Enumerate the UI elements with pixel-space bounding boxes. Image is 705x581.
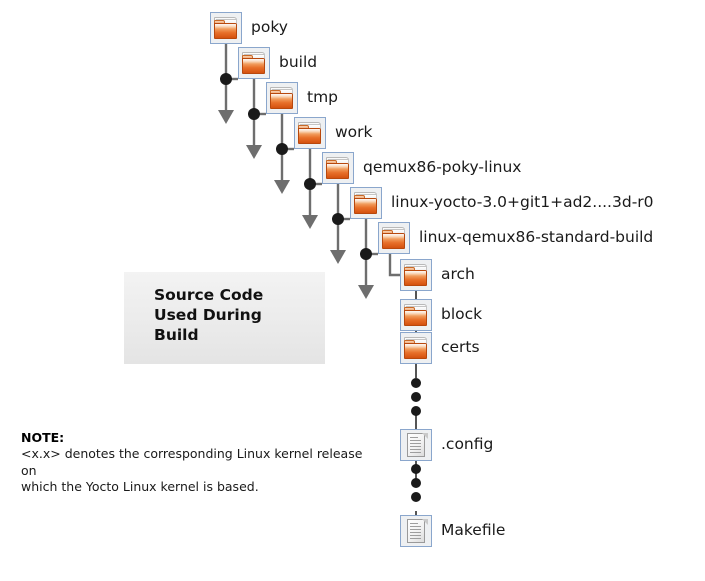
folder-icon xyxy=(294,117,326,149)
file-icon xyxy=(400,515,432,547)
tree-node-label: arch xyxy=(441,267,475,283)
folder-icon xyxy=(350,187,382,219)
note-body: <x.x> denotes the corresponding Linux ke… xyxy=(21,446,381,496)
folder-icon xyxy=(322,152,354,184)
tree-node-poky[interactable]: poky xyxy=(210,12,288,44)
tree-node-linux-qemux86-standard-build[interactable]: linux-qemux86-standard-build xyxy=(378,222,653,254)
ellipsis-dots-upper xyxy=(411,378,421,416)
tree-node-makefile[interactable]: Makefile xyxy=(400,515,505,547)
folder-icon xyxy=(238,47,270,79)
folder-icon xyxy=(400,259,432,291)
tree-node-qemux86-poky-linux[interactable]: qemux86-poky-linux xyxy=(322,152,521,184)
tree-node-label: qemux86-poky-linux xyxy=(363,160,521,176)
file-icon xyxy=(400,429,432,461)
tree-node-build[interactable]: build xyxy=(238,47,317,79)
tree-node-label: .config xyxy=(441,437,493,453)
tree-node-config[interactable]: .config xyxy=(400,429,493,461)
note-block: NOTE: <x.x> denotes the corresponding Li… xyxy=(21,430,381,496)
tree-node-label: certs xyxy=(441,340,480,356)
note-title: NOTE: xyxy=(21,430,381,446)
tree-node-label: build xyxy=(279,55,317,71)
folder-icon xyxy=(400,332,432,364)
source-code-callout: Source Code Used During Build xyxy=(124,272,325,364)
tree-node-label: tmp xyxy=(307,90,338,106)
tree-node-label: work xyxy=(335,125,373,141)
folder-icon xyxy=(378,222,410,254)
tree-node-label: linux-qemux86-standard-build xyxy=(419,230,653,246)
tree-node-tmp[interactable]: tmp xyxy=(266,82,338,114)
tree-node-label: block xyxy=(441,307,482,323)
folder-icon xyxy=(266,82,298,114)
tree-node-block[interactable]: block xyxy=(400,299,482,331)
tree-node-label: poky xyxy=(251,20,288,36)
tree-node-work[interactable]: work xyxy=(294,117,373,149)
folder-icon xyxy=(210,12,242,44)
tree-node-certs[interactable]: certs xyxy=(400,332,480,364)
ellipsis-dots-lower xyxy=(411,464,421,502)
callout-text: Source Code Used During Build xyxy=(154,285,263,345)
tree-node-arch[interactable]: arch xyxy=(400,259,475,291)
tree-node-label: linux-yocto-3.0+git1+ad2....3d-r0 xyxy=(391,195,654,211)
tree-node-linux-yocto[interactable]: linux-yocto-3.0+git1+ad2....3d-r0 xyxy=(350,187,654,219)
tree-node-label: Makefile xyxy=(441,523,505,539)
folder-icon xyxy=(400,299,432,331)
directory-tree-diagram: poky build tmp work qemux86-poky-linux l… xyxy=(0,0,705,581)
